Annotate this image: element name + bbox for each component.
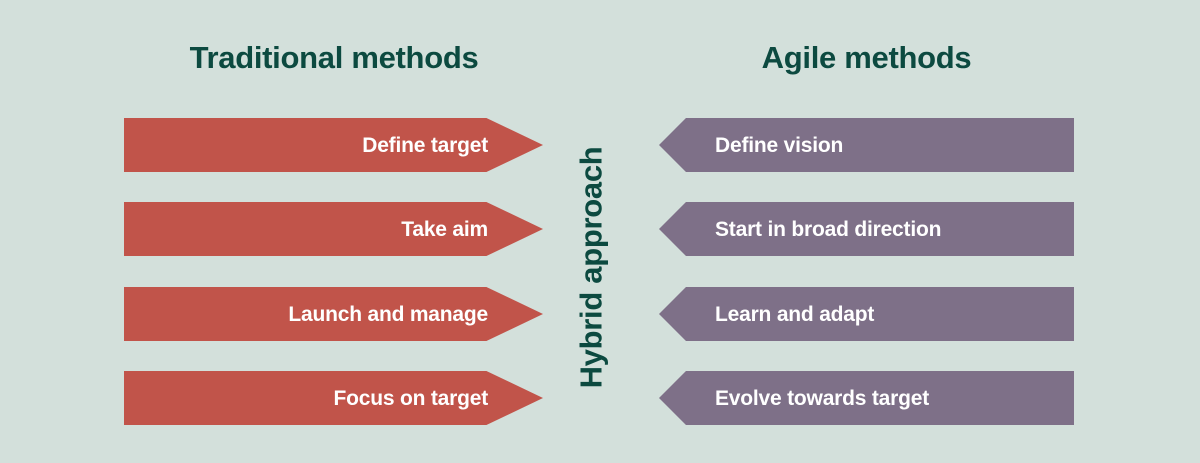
traditional-step-4: Focus on target [124,371,543,425]
agile-step-1-label: Define vision [715,135,843,156]
hybrid-approach-label: Hybrid approach [567,104,615,430]
diagram-canvas: Traditional methods Agile methods Define… [0,0,1200,463]
traditional-step-2: Take aim [124,202,543,256]
hybrid-approach-text: Hybrid approach [576,146,607,388]
agile-step-2: Start in broad direction [659,202,1074,256]
traditional-step-1-label: Define target [362,135,488,156]
traditional-methods-title: Traditional methods [124,42,544,73]
agile-methods-title: Agile methods [659,42,1074,73]
agile-step-4-label: Evolve towards target [715,388,929,409]
traditional-step-3-label: Launch and manage [288,304,488,325]
agile-step-4: Evolve towards target [659,371,1074,425]
traditional-step-1: Define target [124,118,543,172]
traditional-step-2-label: Take aim [401,219,488,240]
agile-step-2-label: Start in broad direction [715,219,941,240]
traditional-step-3: Launch and manage [124,287,543,341]
agile-step-1: Define vision [659,118,1074,172]
agile-step-3-label: Learn and adapt [715,304,874,325]
traditional-step-4-label: Focus on target [333,388,488,409]
agile-step-3: Learn and adapt [659,287,1074,341]
